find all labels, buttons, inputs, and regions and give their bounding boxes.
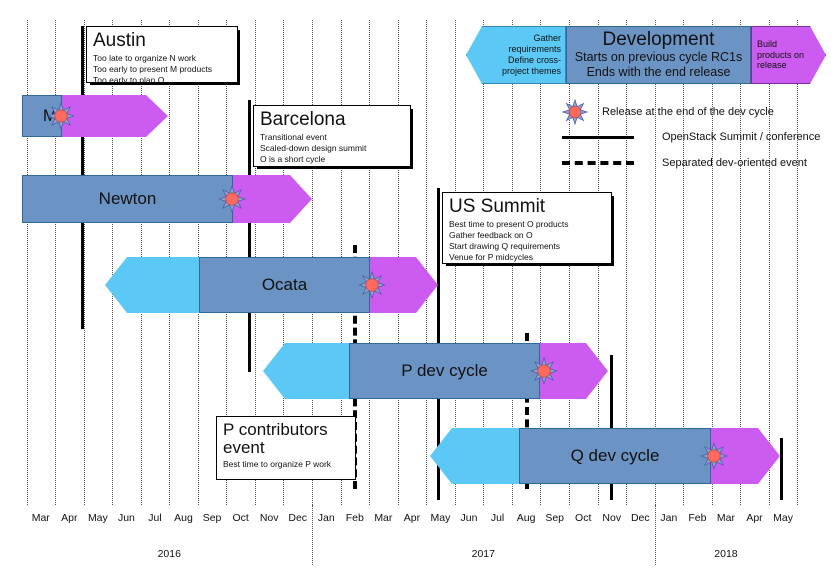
month-label: Nov — [598, 512, 627, 524]
phase-build-text: Build products on release — [752, 39, 825, 72]
legend-release-row: Release at the end of the dev cycle — [562, 99, 774, 125]
cycle-ocata-development — [199, 257, 370, 313]
callout-austin-line-3: Too early to plan O — [93, 75, 231, 86]
cycle-q-development — [519, 428, 711, 484]
callout-p-contributors-event: P contributors event Best time to organi… — [216, 416, 356, 480]
month-label: Aug — [512, 512, 541, 524]
legend-separated-row: Separated dev-oriented event — [562, 157, 807, 169]
callout-p-contributors-line-1: Best time to organize P work — [223, 459, 349, 470]
month-label: Apr — [740, 512, 769, 524]
gridline-month — [797, 20, 798, 505]
month-label: May — [426, 512, 455, 524]
year-label: 2016 — [27, 548, 313, 560]
month-label: Feb — [341, 512, 370, 524]
gridline-year — [655, 505, 656, 565]
summit-line-icon — [562, 136, 634, 139]
cycle-bar-m[interactable]: M — [22, 95, 168, 137]
cycle-ocata-requirements — [105, 257, 199, 313]
month-label: Aug — [169, 512, 198, 524]
cycle-bar-newton[interactable]: Newton — [22, 175, 312, 223]
year-label: 2017 — [312, 548, 655, 560]
month-label: May — [84, 512, 113, 524]
month-label: Jul — [483, 512, 512, 524]
callout-austin-line-1: Too late to organize N work — [93, 53, 231, 64]
cycle-q-requirements — [430, 428, 519, 484]
month-label: Jan — [655, 512, 684, 524]
gridline-month — [55, 20, 56, 505]
release-star-icon — [562, 99, 592, 125]
month-label: Jul — [141, 512, 170, 524]
cycle-p-requirements — [263, 343, 349, 399]
callout-us-summit-line-1: Best time to present O products — [449, 219, 605, 230]
cycle-newton-development — [22, 175, 233, 223]
timeline-diagram: Gather requirements Define cross- projec… — [0, 0, 840, 587]
callout-barcelona: Barcelona Transitional event Scaled-down… — [253, 105, 411, 167]
phase-requirements-text: Gather requirements Define cross- projec… — [467, 33, 565, 77]
callout-us-summit-title: US Summit — [449, 197, 605, 217]
year-label: 2018 — [655, 548, 798, 560]
event-line-summit-2018 — [780, 438, 783, 500]
cycle-p-development — [349, 343, 540, 399]
release-star-icon-p — [530, 357, 558, 385]
gridline-year — [312, 505, 313, 565]
legend-summit-label: OpenStack Summit / conference — [662, 131, 820, 143]
callout-us-summit-line-4: Venue for P midcycles — [449, 252, 605, 263]
event-line-barcelona — [248, 100, 251, 372]
gridline-month — [27, 20, 28, 505]
month-label: Dec — [283, 512, 312, 524]
phase-requirements: Gather requirements Define cross- projec… — [466, 26, 566, 84]
callout-us-summit: US Summit Best time to present O product… — [442, 192, 612, 264]
callout-austin-line-2: Too early to present M products — [93, 64, 231, 75]
release-star-icon-q — [700, 442, 728, 470]
callout-barcelona-line-3: O is a short cycle — [260, 154, 404, 165]
month-label: Nov — [255, 512, 284, 524]
month-label: Apr — [55, 512, 84, 524]
month-label: Oct — [226, 512, 255, 524]
month-label: Jan — [312, 512, 341, 524]
separated-dash-icon — [562, 161, 634, 165]
legend-separated-label: Separated dev-oriented event — [662, 157, 807, 169]
release-star-icon-newton — [218, 185, 246, 213]
month-label: Oct — [569, 512, 598, 524]
legend-summit-row: OpenStack Summit / conference — [562, 131, 820, 143]
callout-barcelona-line-2: Scaled-down design summit — [260, 143, 404, 154]
callout-us-summit-line-3: Start drawing Q requirements — [449, 241, 605, 252]
month-label: Jun — [112, 512, 141, 524]
release-star-icon-m — [47, 102, 75, 130]
callout-p-contributors-title: P contributors event — [223, 421, 349, 457]
callout-barcelona-line-1: Transitional event — [260, 132, 404, 143]
callout-barcelona-title: Barcelona — [260, 110, 404, 130]
cycle-bar-ocata[interactable]: Ocata — [105, 257, 438, 313]
month-label: Feb — [683, 512, 712, 524]
month-label: Mar — [712, 512, 741, 524]
phase-development-text: Development Starts on previous cycle RC1… — [571, 30, 746, 81]
month-label: Apr — [398, 512, 427, 524]
month-label: Mar — [369, 512, 398, 524]
month-label: Mar — [27, 512, 56, 524]
month-label: May — [769, 512, 798, 524]
callout-us-summit-line-2: Gather feedback on O — [449, 230, 605, 241]
release-star-icon-ocata — [358, 271, 386, 299]
month-label: Sep — [198, 512, 227, 524]
phase-development: Development Starts on previous cycle RC1… — [566, 26, 751, 84]
month-label: Dec — [626, 512, 655, 524]
cycle-m-release — [62, 95, 168, 137]
phase-legend: Gather requirements Define cross- projec… — [466, 26, 826, 84]
phase-build: Build products on release — [751, 26, 826, 84]
callout-austin: Austin Too late to organize N work Too e… — [86, 26, 238, 83]
callout-austin-title: Austin — [93, 31, 231, 51]
legend-release-label: Release at the end of the dev cycle — [602, 106, 774, 118]
month-label: Jun — [455, 512, 484, 524]
month-label: Sep — [540, 512, 569, 524]
